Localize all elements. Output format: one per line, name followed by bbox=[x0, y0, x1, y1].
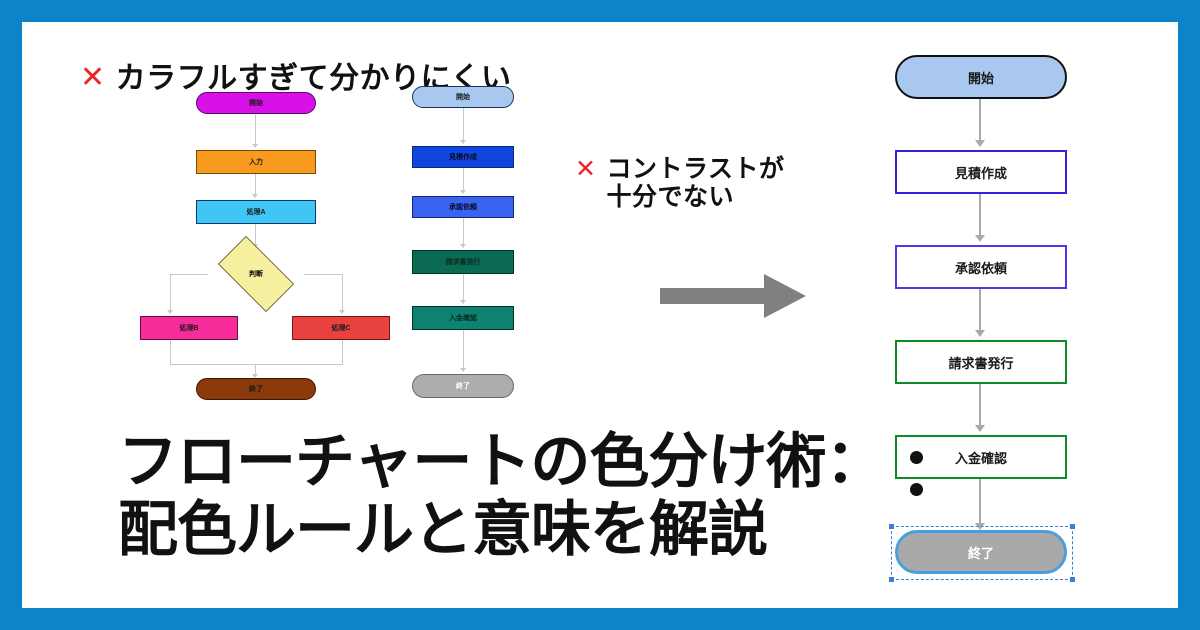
flow-node-label: 開始 bbox=[968, 68, 994, 87]
flow-node-label: 判断 bbox=[249, 271, 263, 278]
flow-node-label: 見積作成 bbox=[955, 163, 1007, 182]
flow-node-invoice[interactable]: 請求書発行 bbox=[895, 340, 1067, 384]
flow-node-label: 終了 bbox=[968, 543, 994, 562]
flow-node-label: 請求書発行 bbox=[948, 353, 1013, 372]
resize-handle[interactable] bbox=[889, 524, 894, 529]
flow-node-label: 入金確認 bbox=[955, 448, 1007, 467]
flow-node-start[interactable]: 開始 bbox=[895, 55, 1067, 99]
flow-node-end[interactable]: 終了 bbox=[895, 530, 1067, 574]
selection-dot-marker bbox=[910, 483, 923, 496]
flow-node-quote[interactable]: 見積作成 bbox=[895, 150, 1067, 194]
resize-handle[interactable] bbox=[889, 577, 894, 582]
flow-node-approval[interactable]: 承認依頼 bbox=[895, 245, 1067, 289]
resize-handle[interactable] bbox=[1070, 524, 1075, 529]
page-title: フローチャートの色分け術： 配色ルールと意味を解説 bbox=[118, 428, 884, 564]
flow-node-label: 承認依頼 bbox=[955, 258, 1007, 277]
selection-dot-marker bbox=[910, 451, 923, 464]
resize-handle[interactable] bbox=[1070, 577, 1075, 582]
slide-canvas: ✕ カラフルすぎて分かりにくい ✕ コントラストが 十分でない 開始 入力 処理… bbox=[22, 22, 1178, 608]
